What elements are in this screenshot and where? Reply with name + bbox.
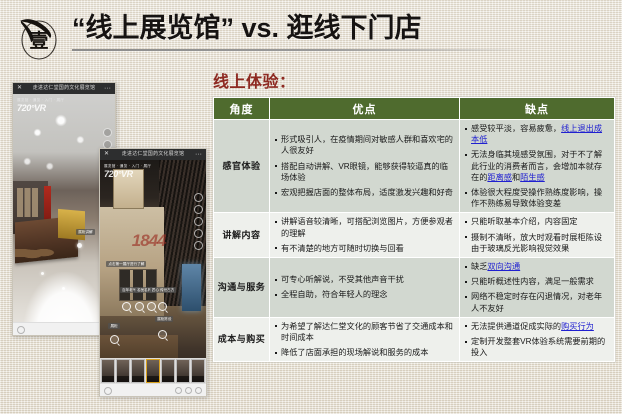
- pros-list: 形式吸引人，在疫情期间对敏感人群和喜欢宅的人很友好搭配自动讲解、VR眼镜，能够获…: [274, 134, 455, 198]
- section-heading: 线上体验：: [213, 72, 614, 94]
- scene-video-screen: [182, 264, 201, 311]
- cell-cons: 缺乏双向沟通只能听概述性内容，满足一般需求网络不稳定时存在闪退情况，对老年人不友…: [460, 258, 615, 318]
- thumbnail-item-selected[interactable]: [146, 359, 160, 383]
- hotspot-marker-icon[interactable]: [41, 272, 44, 275]
- cons-list: 缺乏双向沟通只能听概述性内容，满足一般需求网络不稳定时存在闪退情况，对老年人不友…: [464, 261, 610, 314]
- hotspot-label-chip[interactable]: 展柜陈设: [155, 316, 173, 322]
- cons-list-item: 只能听取基本介绍，内容固定: [464, 216, 610, 227]
- brush-seal-logo: 壹: [12, 11, 64, 63]
- cons-list-item: 感受较平淡，容易疲惫，线上退出成本低: [464, 123, 610, 145]
- thumbnail-item[interactable]: [161, 359, 175, 383]
- table-row: 感官体验形式吸引人，在疫情期间对敏感人群和喜欢宅的人很友好搭配自动讲解、VR眼镜…: [214, 120, 615, 213]
- scene-thumbnail-strip[interactable]: [100, 358, 206, 384]
- magnifier-icon[interactable]: [158, 330, 167, 339]
- cell-cons: 无法提供通道促成实际的购买行为定制开发整套VR体验系统需要前期的投入: [460, 317, 615, 362]
- svg-text:壹: 壹: [29, 30, 48, 52]
- phone-top-nav-title: 走进达仁堂国药文化展览馆: [13, 84, 115, 93]
- cell-pros: 形式吸引人，在疫情期间对敏感人群和喜欢宅的人很友好搭配自动讲解、VR眼镜，能够获…: [270, 120, 460, 213]
- thumbnail-item[interactable]: [116, 359, 130, 383]
- cons-list-item: 摄制不清晰，放大时观看时展柜陈设由于玻璃反光影响视觉效果: [464, 232, 610, 254]
- pros-list-item: 降低了店面承担的现场解说和服务的成本: [274, 347, 455, 358]
- table-header-row: 角度 优点 缺点: [214, 98, 615, 120]
- thumbnail-item[interactable]: [191, 359, 205, 383]
- cons-list-item: 网络不稳定时存在闪退情况，对老年人不友好: [464, 291, 610, 313]
- thumbnail-item[interactable]: [101, 359, 115, 383]
- footer-icon-gyro[interactable]: [185, 387, 192, 394]
- cell-pros: 讲解语音较清晰，可搭配浏览图片，方便参观者的理解有不清楚的地方可随时切换与回看: [270, 213, 460, 258]
- vr-tool-rail[interactable]: [194, 193, 203, 250]
- scene-herb-bowls: [15, 243, 60, 262]
- inline-hyperlink[interactable]: 线上退出成本低: [471, 124, 602, 144]
- title-block: “线上展览馆” vs. 逛线下门店: [72, 8, 592, 51]
- hotspot-label-chip[interactable]: 展柜: [108, 323, 119, 329]
- more-options-icon[interactable]: ···: [104, 83, 111, 94]
- phone-bottom-footer: [100, 383, 206, 396]
- footer-control-icons[interactable]: [175, 387, 202, 394]
- cons-list-item: 缺乏双向沟通: [464, 261, 610, 272]
- title-underline-rule: [72, 49, 532, 51]
- pros-list-item: 宏观把握店面的整体布局，适度激发兴趣和好奇: [274, 187, 455, 198]
- inline-hyperlink[interactable]: 陌生感: [520, 173, 545, 182]
- cell-cons: 感受较平淡，容易疲惫，线上退出成本低无法身临其境感受氛围，对于不了解此行业的消费…: [460, 120, 615, 213]
- rail-icon-vr[interactable]: [194, 241, 203, 250]
- cell-aspect: 沟通与服务: [214, 258, 270, 318]
- table-row: 讲解内容讲解语音较清晰，可搭配浏览图片，方便参观者的理解有不清楚的地方可随时切换…: [214, 213, 615, 258]
- phone-bottom-nav-title: 走进达仁堂国药文化展览馆: [100, 150, 206, 159]
- cons-list-item: 只能听概述性内容，满足一般需求: [464, 276, 610, 287]
- pros-list: 为希望了解达仁堂文化的顾客节省了交通成本和时间成本降低了店面承担的现场解说和服务…: [274, 321, 455, 359]
- scene-wall-frames: [17, 188, 44, 217]
- slide-canvas: 壹 “线上展览馆” vs. 逛线下门店 ✕ 走进达仁堂国药文化展览馆 ···: [0, 0, 622, 414]
- cons-list: 无法提供通道促成实际的购买行为定制开发整套VR体验系统需要前期的投入: [464, 321, 610, 359]
- magnifier-icon[interactable]: [147, 302, 156, 311]
- table-row: 成本与购买为希望了解达仁堂文化的顾客节省了交通成本和时间成本降低了店面承担的现场…: [214, 317, 615, 362]
- vr-watermark: 展览馆 · 通览 · 入门 · 展厅 720°VR: [104, 164, 151, 179]
- footer-home-icon[interactable]: [104, 387, 112, 395]
- hotspot-marker-icon[interactable]: [62, 287, 65, 290]
- pros-list-item: 为希望了解达仁堂文化的顾客节省了交通成本和时间成本: [274, 321, 455, 343]
- phone-bottom-navbar: ✕ 走进达仁堂国药文化展览馆 ···: [100, 149, 206, 160]
- phone-bottom-viewport[interactable]: 1844 展览馆 · 通览 · 入门 · 展厅 720°VR: [100, 160, 206, 396]
- thumbnail-item[interactable]: [176, 359, 190, 383]
- table-body: 感官体验形式吸引人，在疫情期间对敏感人群和喜欢宅的人很友好搭配自动讲解、VR眼镜…: [214, 120, 615, 362]
- more-options-icon[interactable]: ···: [195, 149, 202, 160]
- page-title: “线上展览馆” vs. 逛线下门店: [72, 8, 592, 48]
- vr-logo-text: 720°VR: [17, 103, 64, 113]
- cell-cons: 只能听取基本介绍，内容固定摄制不清晰，放大时观看时展柜陈设由于玻璃反光影响视觉效…: [460, 213, 615, 258]
- cons-list: 感受较平淡，容易疲惫，线上退出成本低无法身临其境感受氛围，对于不了解此行业的消费…: [464, 123, 610, 209]
- hotspot-label-chip[interactable]: 匠心 传世古方: [150, 287, 177, 293]
- cell-aspect: 感官体验: [214, 120, 270, 213]
- rail-icon-audio[interactable]: [194, 217, 203, 226]
- vr-watermark: 展览馆 · 通览 · 入门 · 展厅 720°VR: [17, 98, 64, 113]
- table-row: 沟通与服务可专心听解说，不受其他声音干扰全程自助，符合年轻人的理念缺乏双向沟通只…: [214, 258, 615, 318]
- column-header-aspect: 角度: [214, 98, 270, 120]
- hotspot-label-chip[interactable]: 展柜讲解: [76, 229, 94, 235]
- column-header-pros: 优点: [270, 98, 460, 120]
- pros-list-item: 形式吸引人，在疫情期间对敏感人群和喜欢宅的人很友好: [274, 134, 455, 156]
- screenshot-collage: ✕ 走进达仁堂国药文化展览馆 ··· 展览馆 · 通览 · 入门 · 展厅 72…: [10, 82, 206, 402]
- inline-hyperlink[interactable]: 距离感: [487, 173, 512, 182]
- cons-list: 只能听取基本介绍，内容固定摄制不清晰，放大时观看时展柜陈设由于玻璃反光影响视觉效…: [464, 216, 610, 254]
- rail-icon-map[interactable]: [194, 205, 203, 214]
- cons-list-item: 无法提供通道促成实际的购买行为: [464, 321, 610, 332]
- footer-home-icon[interactable]: [17, 326, 25, 334]
- pros-list-item: 可专心听解说，不受其他声音干扰: [274, 274, 455, 285]
- footer-icon-vr[interactable]: [195, 387, 202, 394]
- magnifier-icon[interactable]: [122, 302, 131, 311]
- rail-icon-info[interactable]: [103, 128, 112, 137]
- cons-list-item: 无法身临其境感受氛围，对于不了解此行业的消费者而言，会增加本就存在的距离感和陌生…: [464, 149, 610, 183]
- pros-list-item: 讲解语音较清晰，可搭配浏览图片，方便参观者的理解: [274, 216, 455, 238]
- scene-wall-year-text: 1844: [132, 231, 166, 251]
- slide-header: 壹 “线上展览馆” vs. 逛线下门店: [0, 0, 622, 70]
- pros-list-item: 全程自助，符合年轻人的理念: [274, 289, 455, 300]
- phone-screenshot-bottom: ✕ 走进达仁堂国药文化展览馆 ··· 1844 展览馆 · 通览 · 入门 · …: [99, 148, 207, 397]
- phone-top-navbar: ✕ 走进达仁堂国药文化展览馆 ···: [13, 83, 115, 94]
- cell-aspect: 成本与购买: [214, 317, 270, 362]
- content-panel: 线上体验： 角度 优点 缺点 感官体验形式吸引人，在疫情期间对敏感人群和喜欢宅的…: [213, 72, 614, 362]
- magnifier-icon[interactable]: [158, 302, 167, 311]
- pros-list-item: 搭配自动讲解、VR眼镜，能够获得较逼真的临场体验: [274, 161, 455, 183]
- cons-list-item: 体验很大程度受操作熟练度影响，操作不熟练易导致体验变差: [464, 187, 610, 209]
- thumbnail-item[interactable]: [131, 359, 145, 383]
- rail-icon-info[interactable]: [194, 193, 203, 202]
- inline-hyperlink[interactable]: 购买行为: [561, 322, 594, 331]
- scene-portrait-row: [119, 269, 157, 302]
- comparison-table: 角度 优点 缺点 感官体验形式吸引人，在疫情期间对敏感人群和喜欢宅的人很友好搭配…: [213, 97, 615, 362]
- cell-pros: 为希望了解达仁堂文化的顾客节省了交通成本和时间成本降低了店面承担的现场解说和服务…: [270, 317, 460, 362]
- footer-icon-grid[interactable]: [175, 387, 182, 394]
- scene-display-case: [58, 209, 85, 240]
- cell-pros: 可专心听解说，不受其他声音干扰全程自助，符合年轻人的理念: [270, 258, 460, 318]
- column-header-cons: 缺点: [460, 98, 615, 120]
- pros-list-item: 有不清楚的地方可随时切换与回看: [274, 243, 455, 254]
- inline-hyperlink[interactable]: 双向沟通: [487, 262, 520, 271]
- magnifier-icon[interactable]: [135, 302, 144, 311]
- magnifier-icon[interactable]: [110, 335, 119, 344]
- pros-list: 讲解语音较清晰，可搭配浏览图片，方便参观者的理解有不清楚的地方可随时切换与回看: [274, 216, 455, 254]
- cell-aspect: 讲解内容: [214, 213, 270, 258]
- vr-logo-text: 720°VR: [104, 169, 151, 179]
- cons-list-item: 定制开发整套VR体验系统需要前期的投入: [464, 336, 610, 358]
- hotspot-tip-chip[interactable]: 点击第一展厅进行了解: [106, 261, 146, 267]
- rail-icon-share[interactable]: [194, 229, 203, 238]
- pros-list: 可专心听解说，不受其他声音干扰全程自助，符合年轻人的理念: [274, 274, 455, 300]
